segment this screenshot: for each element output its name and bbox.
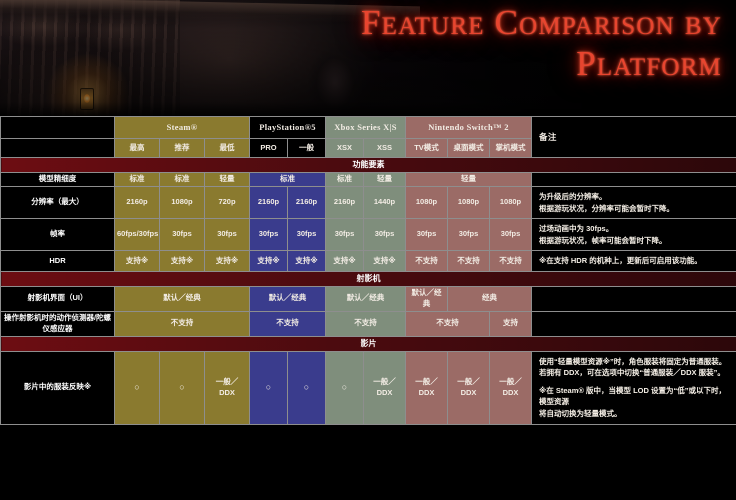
- value-cell: 不支持: [115, 311, 250, 336]
- page-title: Feature Comparison by Platform: [162, 2, 722, 85]
- notes-cell: [532, 311, 736, 336]
- notes-column-header: 备注: [532, 117, 736, 158]
- value-cell: 1080p: [160, 186, 205, 218]
- platform-subheader-xbox: XSS: [364, 139, 406, 158]
- section-header-row: 影片: [1, 336, 736, 351]
- note-line: 使用“轻量模型资源※”时，角色服装将固定为普通服装。: [539, 356, 729, 368]
- row-label: 帧率: [1, 219, 115, 251]
- value-cell: 一般／DDX: [364, 351, 406, 424]
- value-cell: 不支持: [250, 311, 326, 336]
- value-cell: 一般／DDX: [406, 351, 448, 424]
- value-cell: 2160p: [115, 186, 160, 218]
- section-title-0: 功能要素: [1, 158, 736, 173]
- value-cell: 30fps: [250, 219, 288, 251]
- table-row: 影片中的服装反映※○○一般／DDX○○○一般／DDX一般／DDX一般／DDX一般…: [1, 351, 736, 424]
- value-cell: 30fps: [205, 219, 250, 251]
- section-title-2: 影片: [1, 336, 736, 351]
- platform-subheader-switch: 掌机模式: [490, 139, 532, 158]
- platform-subheader-steam: 最低: [205, 139, 250, 158]
- value-cell: 默认／经典: [115, 287, 250, 312]
- section-title-1: 射影机: [1, 272, 736, 287]
- notes-cell: [532, 173, 736, 187]
- notes-cell: 过场动画中为 30fps。根据游玩状况，帧率可能会暂时下降。: [532, 219, 736, 251]
- value-cell: ○: [115, 351, 160, 424]
- platform-header-steam: Steam®: [115, 117, 250, 139]
- value-cell: 60fps/30fps: [115, 219, 160, 251]
- value-cell: 30fps: [326, 219, 364, 251]
- value-cell: 标准: [326, 173, 364, 187]
- section-header-row: 功能要素: [1, 158, 736, 173]
- note-line: ※在支持 HDR 的机种上，更新后可启用该功能。: [539, 255, 729, 267]
- value-cell: 不支持: [406, 251, 448, 272]
- value-cell: 支持※: [364, 251, 406, 272]
- table-row: 射影机界面（UI）默认／经典默认／经典默认／经典默认／经典经典: [1, 287, 736, 312]
- value-cell: 支持※: [326, 251, 364, 272]
- page-root: Feature Comparison by Platform Steam®Pla…: [0, 0, 736, 500]
- value-cell: 1080p: [448, 186, 490, 218]
- value-cell: 30fps: [288, 219, 326, 251]
- table-row: 操作射影机时的动作侦测器/陀螺仪感应器不支持不支持不支持不支持支持: [1, 311, 736, 336]
- platform-header-xbox: Xbox Series X|S: [326, 117, 406, 139]
- row-label: 分辨率（最大）: [1, 186, 115, 218]
- value-cell: 轻量: [205, 173, 250, 187]
- value-cell: 不支持: [406, 311, 490, 336]
- notes-cell: ※在支持 HDR 的机种上，更新后可启用该功能。: [532, 251, 736, 272]
- row-label: 射影机界面（UI）: [1, 287, 115, 312]
- value-cell: 不支持: [448, 251, 490, 272]
- notes-cell: 为升级后的分辨率。根据游玩状况，分辨率可能会暂时下降。: [532, 186, 736, 218]
- value-cell: 一般／DDX: [448, 351, 490, 424]
- note-line: 将自动切换为轻量模式。: [539, 408, 729, 420]
- header-corner-cell: [1, 117, 115, 139]
- value-cell: 支持※: [288, 251, 326, 272]
- value-cell: 1080p: [406, 186, 448, 218]
- value-cell: 2160p: [250, 186, 288, 218]
- header-corner-cell-2: [1, 139, 115, 158]
- platform-subheader-switch: TV模式: [406, 139, 448, 158]
- platform-header-playstation: PlayStation®5: [250, 117, 326, 139]
- value-cell: 支持※: [205, 251, 250, 272]
- value-cell: 经典: [448, 287, 532, 312]
- platform-subheader-switch: 桌面模式: [448, 139, 490, 158]
- notes-cell: [532, 287, 736, 312]
- row-label: 影片中的服装反映※: [1, 351, 115, 424]
- header-banner: Feature Comparison by Platform: [0, 0, 736, 116]
- value-cell: ○: [250, 351, 288, 424]
- table-row: 模型精细度标准标准轻量标准标准轻量轻量: [1, 173, 736, 187]
- table-header-platform-row: Steam®PlayStation®5Xbox Series X|SNinten…: [1, 117, 736, 139]
- section-header-row: 射影机: [1, 272, 736, 287]
- platform-subheader-steam: 最高: [115, 139, 160, 158]
- value-cell: 支持: [490, 311, 532, 336]
- value-cell: ○: [288, 351, 326, 424]
- value-cell: ○: [160, 351, 205, 424]
- value-cell: 30fps: [448, 219, 490, 251]
- value-cell: 标准: [250, 173, 326, 187]
- value-cell: 2160p: [326, 186, 364, 218]
- value-cell: 1440p: [364, 186, 406, 218]
- value-cell: 30fps: [490, 219, 532, 251]
- value-cell: 支持※: [115, 251, 160, 272]
- value-cell: 30fps: [364, 219, 406, 251]
- value-cell: 2160p: [288, 186, 326, 218]
- note-line: 若拥有 DDX，可在选项中切换“普通服装／DDX 服装”。: [539, 367, 729, 379]
- note-line: 根据游玩状况，分辨率可能会暂时下降。: [539, 203, 729, 215]
- platform-header-switch: Nintendo Switch™ 2: [406, 117, 532, 139]
- feature-comparison-table: Steam®PlayStation®5Xbox Series X|SNinten…: [0, 116, 736, 425]
- value-cell: 轻量: [364, 173, 406, 187]
- notes-cell: 使用“轻量模型资源※”时，角色服装将固定为普通服装。若拥有 DDX，可在选项中切…: [532, 351, 736, 424]
- value-cell: 720p: [205, 186, 250, 218]
- table-row: 分辨率（最大）2160p1080p720p2160p2160p2160p1440…: [1, 186, 736, 218]
- row-label: HDR: [1, 251, 115, 272]
- value-cell: 标准: [160, 173, 205, 187]
- note-line: 过场动画中为 30fps。: [539, 223, 729, 235]
- value-cell: 一般／DDX: [490, 351, 532, 424]
- value-cell: 支持※: [250, 251, 288, 272]
- value-cell: 不支持: [490, 251, 532, 272]
- value-cell: 支持※: [160, 251, 205, 272]
- table-row: 帧率60fps/30fps30fps30fps30fps30fps30fps30…: [1, 219, 736, 251]
- table-row: HDR支持※支持※支持※支持※支持※支持※支持※不支持不支持不支持※在支持 HD…: [1, 251, 736, 272]
- note-line: ※在 Steam® 版中，当模型 LOD 设置为“低”或以下时，模型资源: [539, 385, 729, 408]
- note-line: 根据游玩状况，帧率可能会暂时下降。: [539, 235, 729, 247]
- value-cell: 1080p: [490, 186, 532, 218]
- row-label: 操作射影机时的动作侦测器/陀螺仪感应器: [1, 311, 115, 336]
- comparison-table-wrapper: Steam®PlayStation®5Xbox Series X|SNinten…: [0, 116, 736, 425]
- note-line: 为升级后的分辨率。: [539, 191, 729, 203]
- value-cell: 默认／经典: [326, 287, 406, 312]
- platform-subheader-playstation: 一般: [288, 139, 326, 158]
- platform-subheader-steam: 推荐: [160, 139, 205, 158]
- value-cell: 30fps: [160, 219, 205, 251]
- value-cell: 30fps: [406, 219, 448, 251]
- platform-subheader-playstation: PRO: [250, 139, 288, 158]
- value-cell: 默认／经典: [250, 287, 326, 312]
- value-cell: 标准: [115, 173, 160, 187]
- platform-subheader-xbox: XSX: [326, 139, 364, 158]
- table-body: Steam®PlayStation®5Xbox Series X|SNinten…: [1, 117, 736, 425]
- value-cell: 不支持: [326, 311, 406, 336]
- row-label: 模型精细度: [1, 173, 115, 187]
- value-cell: 一般／DDX: [205, 351, 250, 424]
- value-cell: ○: [326, 351, 364, 424]
- value-cell: 默认／经典: [406, 287, 448, 312]
- value-cell: 轻量: [406, 173, 532, 187]
